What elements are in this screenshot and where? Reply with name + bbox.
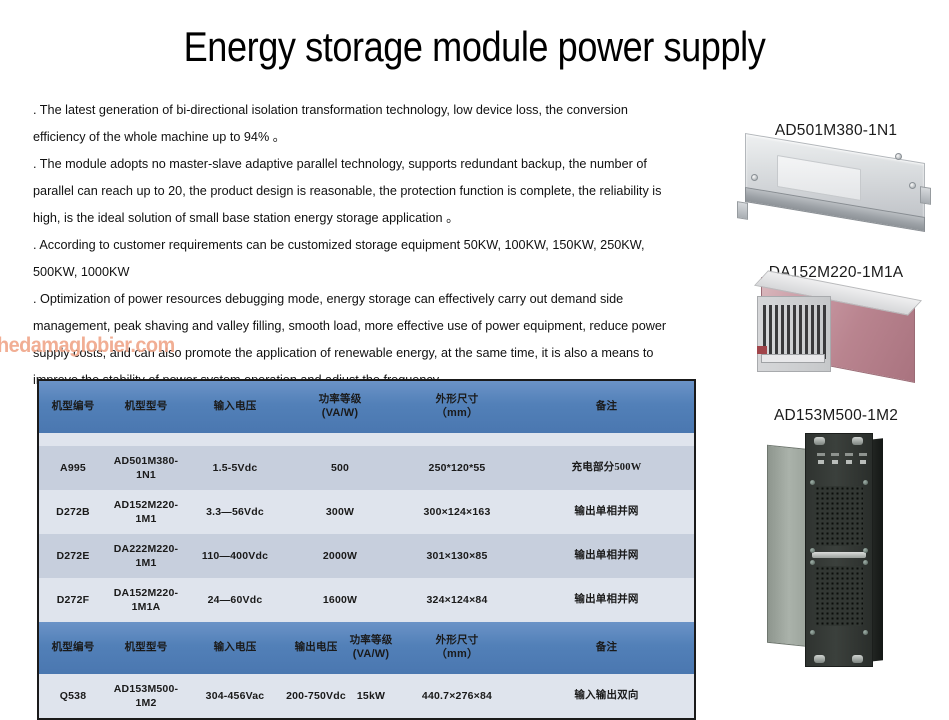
cell-dimensions: 300×124×163 — [395, 490, 519, 534]
cell-model-no: D272B — [39, 490, 107, 534]
cell-model-type: AD501M380-1N1 — [107, 446, 185, 490]
cell-dimensions: 440.7×276×84 — [395, 674, 519, 718]
specification-table: 机型编号 机型型号 输入电压 功率等级 (VA/W) 外形尺寸 （mm） 备注 … — [37, 379, 696, 720]
cell-power: 15kW — [347, 674, 395, 718]
table-spacer — [39, 433, 694, 446]
header-remark-1: 备注 — [519, 381, 694, 433]
cell-power: 1600W — [285, 578, 395, 622]
header-model-no-2: 机型编号 — [39, 622, 107, 674]
cell-model-no: D272E — [39, 534, 107, 578]
cell-input-voltage: 1.5-5Vdc — [185, 446, 285, 490]
cell-power: 500 — [285, 446, 395, 490]
cell-model-no: Q538 — [39, 674, 107, 718]
cell-model-type: AD152M220-1M1 — [107, 490, 185, 534]
description-text-block: . The latest generation of bi-directiona… — [33, 96, 711, 393]
tray-screw — [751, 174, 758, 181]
product-photo-tower-module — [767, 425, 922, 675]
cell-model-no: D272F — [39, 578, 107, 622]
table-row: D272E DA222M220-1M1 110—400Vdc 2000W 301… — [39, 534, 694, 578]
product-photo-rack-tray — [727, 140, 942, 235]
tray-mount-ear-right — [920, 186, 931, 205]
product-block-ad153m500: AD153M500-1M2 — [727, 407, 945, 675]
paragraph-1: . The latest generation of bi-directiona… — [33, 96, 684, 150]
tower-fan-grille-bottom — [815, 566, 863, 626]
cell-dimensions: 250*120*55 — [395, 446, 519, 490]
table-header-row-1: 机型编号 机型型号 输入电压 功率等级 (VA/W) 外形尺寸 （mm） 备注 — [39, 381, 694, 433]
header-remark-2: 备注 — [519, 622, 694, 674]
header-dimensions-2: 外形尺寸 （mm） — [395, 622, 519, 674]
rectifier-front-slot — [761, 354, 825, 363]
product-block-da152m220: DA152M220-1M1A — [727, 264, 945, 382]
tower-handle — [812, 552, 866, 558]
cell-input-voltage: 3.3—56Vdc — [185, 490, 285, 534]
tower-screw — [810, 480, 815, 485]
cell-model-type: DA152M220-1M1A — [107, 578, 185, 622]
cell-model-type: DA222M220-1M1 — [107, 534, 185, 578]
cell-dimensions: 324×124×84 — [395, 578, 519, 622]
header-output-voltage-2: 输出电压 — [285, 622, 347, 674]
tower-screw — [810, 630, 815, 635]
paragraph-3: . According to customer requirements can… — [33, 231, 684, 285]
tower-screw — [863, 480, 868, 485]
tower-screw — [810, 560, 815, 565]
cell-remark: 输出单相并网 — [519, 490, 694, 534]
header-model-no-1: 机型编号 — [39, 381, 107, 433]
tower-captive-screw-bottom-right — [852, 655, 863, 663]
cell-remark: 充电部分500W — [519, 446, 694, 490]
header-input-voltage-1: 输入电压 — [185, 381, 285, 433]
cell-remark: 输入输出双向 — [519, 674, 694, 718]
cell-remark: 输出单相并网 — [519, 534, 694, 578]
tower-front-panel — [805, 433, 873, 667]
header-power-2: 功率等级 (VA/W) — [347, 622, 395, 674]
tower-screw — [863, 630, 868, 635]
tower-fan-grille-top — [815, 486, 863, 546]
tray-screw — [895, 153, 902, 160]
cell-model-no: A995 — [39, 446, 107, 490]
cell-model-type: AD153M500-1M2 — [107, 674, 185, 718]
table-row: D272B AD152M220-1M1 3.3—56Vdc 300W 300×1… — [39, 490, 694, 534]
cell-input-voltage: 110—400Vdc — [185, 534, 285, 578]
table-row: D272F DA152M220-1M1A 24—60Vdc 1600W 324×… — [39, 578, 694, 622]
rectifier-latch-handle — [757, 346, 767, 354]
tower-captive-screw-bottom-left — [814, 655, 825, 663]
header-input-voltage-2: 输入电压 — [185, 622, 285, 674]
header-model-type-2: 机型型号 — [107, 622, 185, 674]
cell-remark: 输出单相并网 — [519, 578, 694, 622]
paragraph-2: . The module adopts no master-slave adap… — [33, 150, 684, 231]
table-row: Q538 AD153M500-1M2 304-456Vac 200-750Vdc… — [39, 674, 694, 718]
tower-captive-screw-top-left — [814, 437, 825, 445]
product-label-3: AD153M500-1M2 — [727, 407, 945, 425]
tower-screw — [863, 560, 868, 565]
cell-power: 2000W — [285, 534, 395, 578]
cell-input-voltage: 304-456Vac — [185, 674, 285, 718]
product-photo-rectifier — [727, 282, 942, 382]
cell-output-voltage: 200-750Vdc — [285, 674, 347, 718]
tray-screw — [909, 182, 916, 189]
cell-dimensions: 301×130×85 — [395, 534, 519, 578]
header-power-1: 功率等级 (VA/W) — [285, 381, 395, 433]
tower-screw — [863, 548, 868, 553]
tower-screw — [810, 548, 815, 553]
page-title: Energy storage module power supply — [66, 26, 882, 68]
header-model-type-1: 机型型号 — [107, 381, 185, 433]
table-header-row-2: 机型编号 机型型号 输入电压 输出电压 功率等级 (VA/W) 外形尺寸 （mm… — [39, 622, 694, 674]
cell-input-voltage: 24—60Vdc — [185, 578, 285, 622]
tray-mount-ear-left — [737, 201, 748, 220]
paragraph-4: . Optimization of power resources debugg… — [33, 285, 684, 393]
tower-captive-screw-top-right — [852, 437, 863, 445]
table-row: A995 AD501M380-1N1 1.5-5Vdc 500 250*120*… — [39, 446, 694, 490]
header-dimensions-1: 外形尺寸 （mm） — [395, 381, 519, 433]
cell-power: 300W — [285, 490, 395, 534]
product-block-ad501m380: AD501M380-1N1 — [727, 122, 945, 235]
